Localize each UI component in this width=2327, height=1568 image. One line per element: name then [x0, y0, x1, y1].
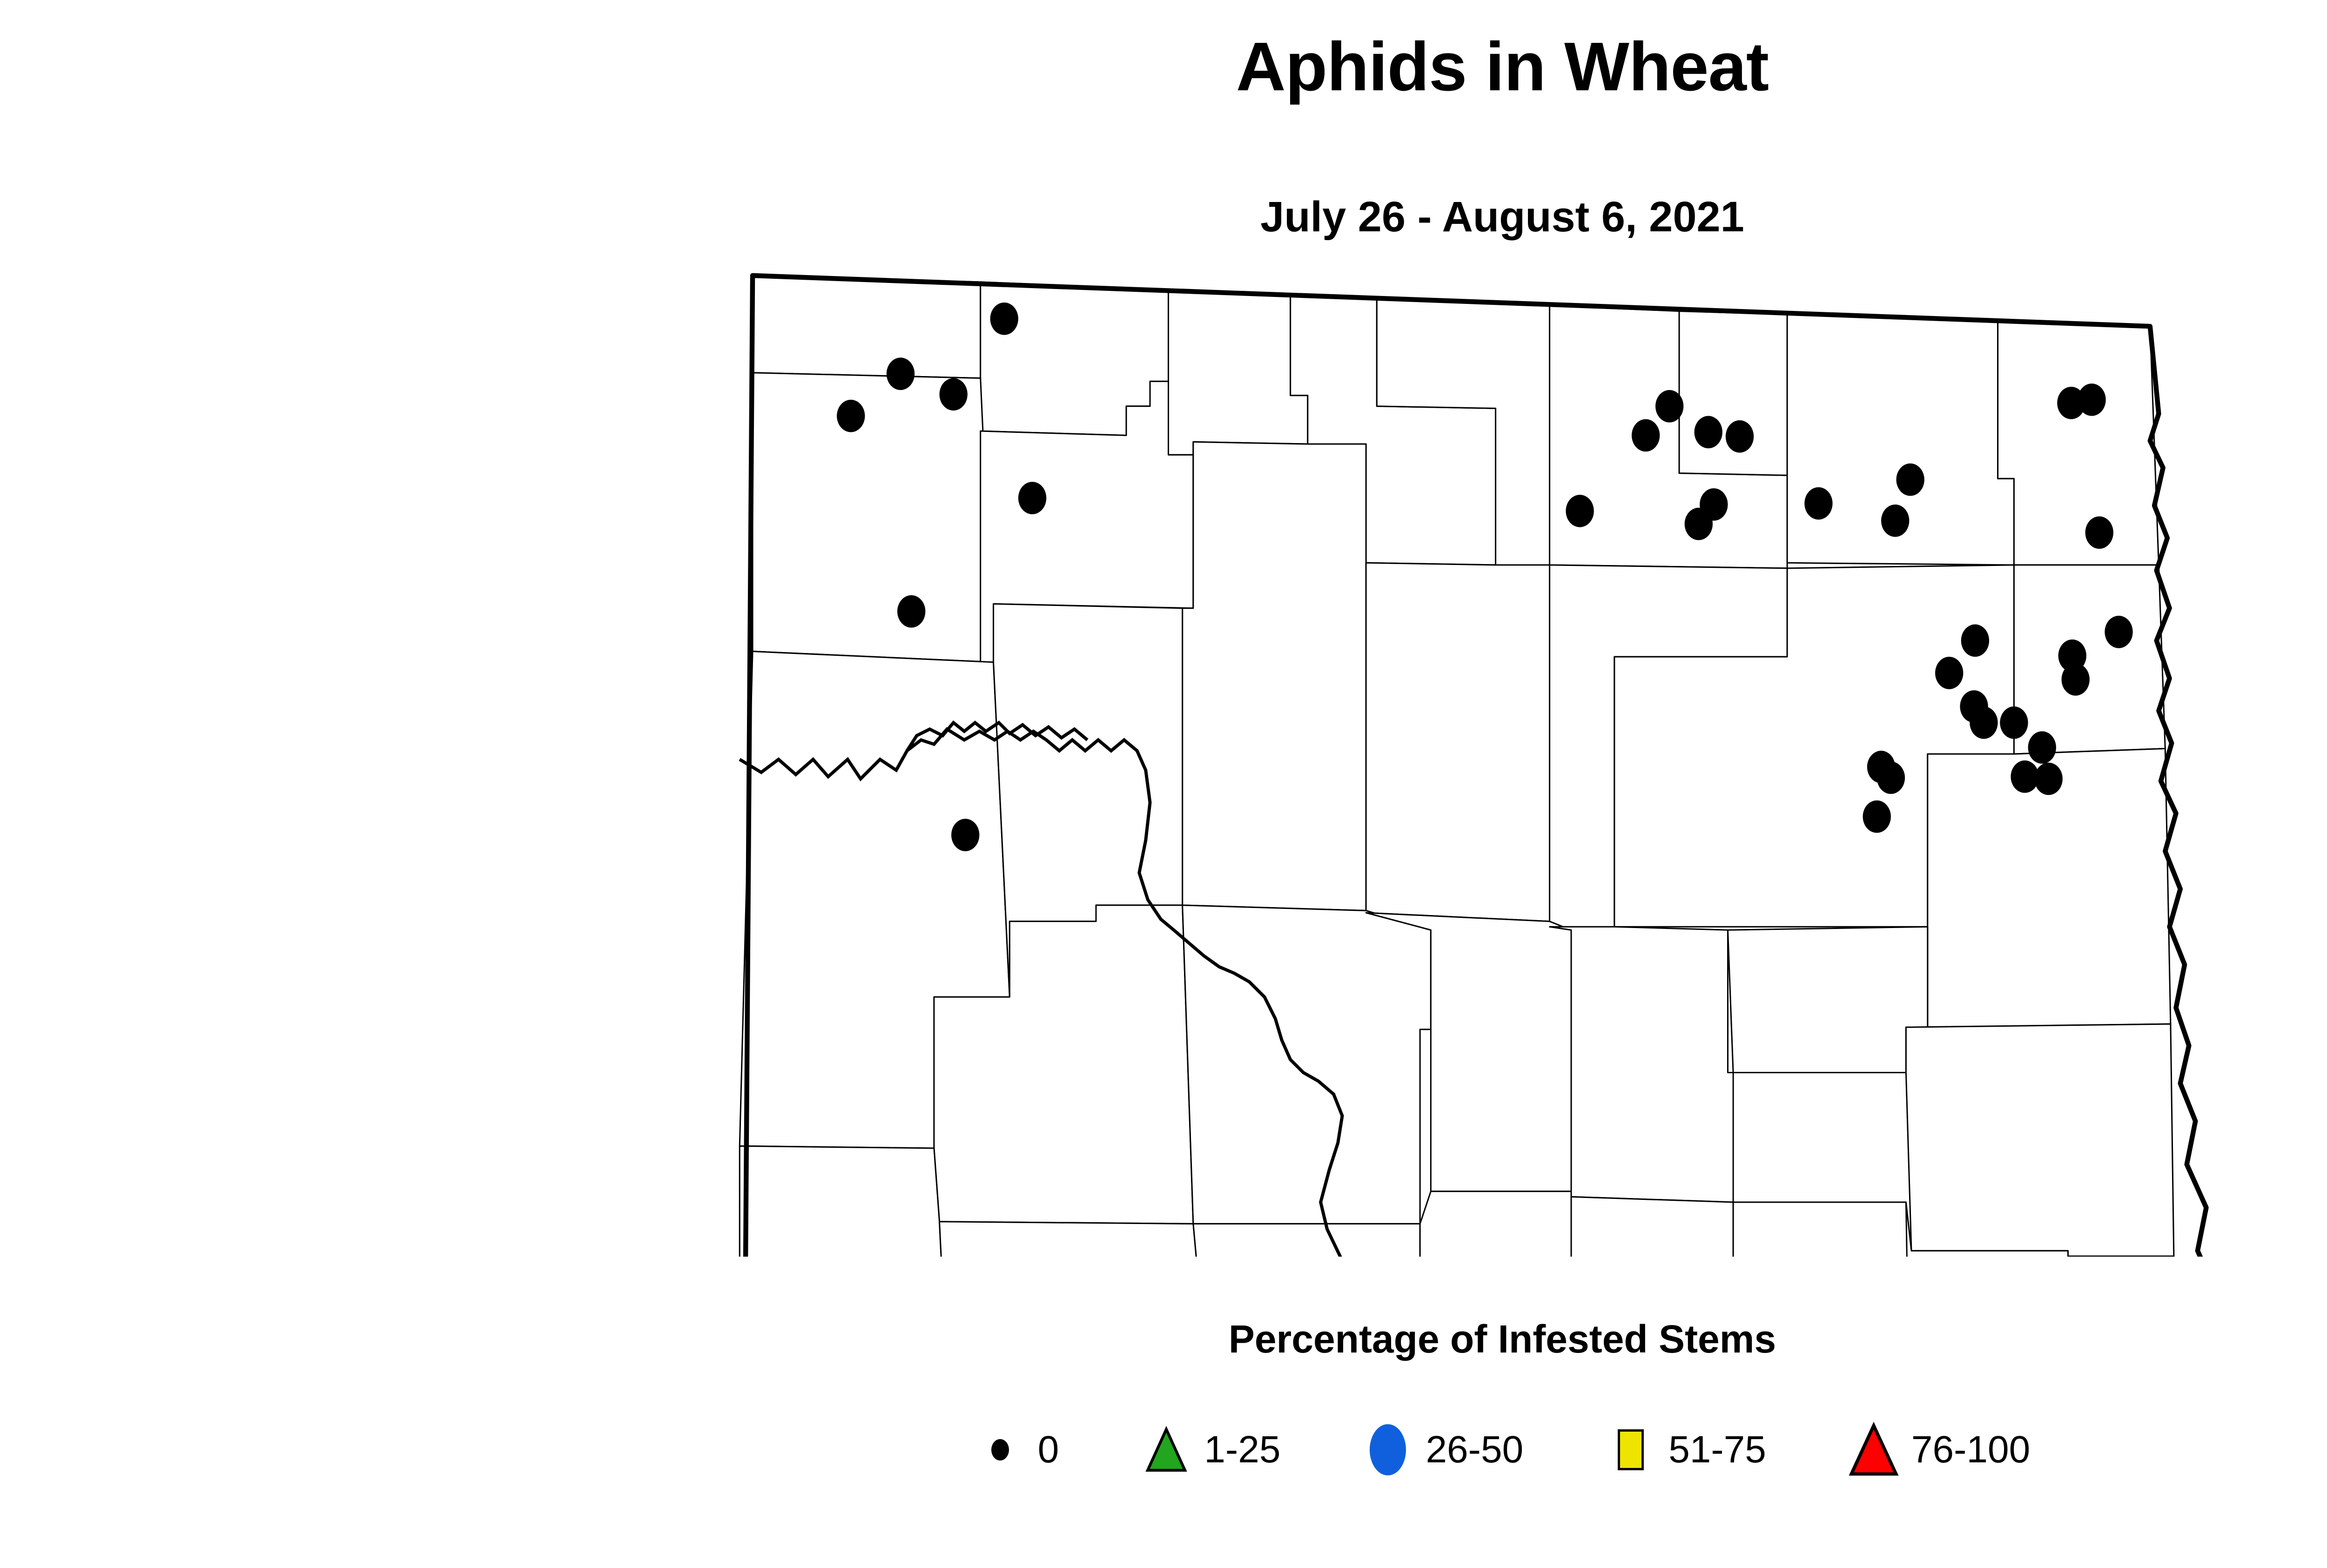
site-marker[interactable] — [1726, 420, 1754, 453]
site-marker[interactable] — [1935, 657, 1963, 689]
map-svg — [675, 251, 2327, 1257]
site-marker[interactable] — [2085, 516, 2113, 549]
green-triangle-icon — [1141, 1422, 1192, 1478]
site-marker[interactable] — [1685, 508, 1713, 540]
site-marker[interactable] — [990, 303, 1018, 335]
legend-item-26-50[interactable]: 26-50 — [1362, 1422, 1523, 1478]
site-marker[interactable] — [1863, 801, 1891, 833]
site-marker[interactable] — [1881, 505, 1909, 537]
black-dot-icon — [975, 1422, 1026, 1478]
legend-item-0[interactable]: 0 — [975, 1422, 1059, 1478]
site-marker[interactable] — [2105, 616, 2132, 648]
site-marker[interactable] — [2062, 663, 2090, 696]
site-marker[interactable] — [1804, 487, 1832, 520]
legend-label-0: 0 — [1038, 1428, 1059, 1472]
site-marker[interactable] — [1877, 761, 1905, 794]
site-marker[interactable] — [2035, 763, 2063, 795]
legend-item-51-75[interactable]: 51-75 — [1605, 1422, 1766, 1478]
site-marker[interactable] — [1897, 464, 1924, 496]
red-triangle-icon — [1848, 1422, 1899, 1478]
site-marker[interactable] — [897, 595, 925, 628]
site-marker[interactable] — [2078, 384, 2105, 416]
yellow-square-icon — [1605, 1422, 1656, 1478]
legend-title: Percentage of Infested Stems — [0, 1319, 2327, 1359]
page-title: Aphids in Wheat — [0, 33, 2327, 101]
site-marker[interactable] — [887, 357, 915, 390]
legend-item-76-100[interactable]: 76-100 — [1848, 1422, 2030, 1478]
north-dakota-map[interactable] — [675, 251, 2327, 1257]
site-marker[interactable] — [2011, 760, 2038, 793]
legend-label-51-75: 51-75 — [1668, 1428, 1766, 1472]
legend-item-1-25[interactable]: 1-25 — [1141, 1422, 1280, 1478]
site-marker[interactable] — [1018, 482, 1046, 514]
site-marker[interactable] — [1695, 416, 1722, 449]
page-subtitle: July 26 - August 6, 2021 — [0, 195, 2327, 238]
poster-canvas: Aphids in Wheat July 26 - August 6, 2021 — [0, 0, 2327, 1568]
site-marker[interactable] — [1566, 495, 1594, 527]
site-marker[interactable] — [1970, 707, 1997, 739]
legend-label-76-100: 76-100 — [1911, 1428, 2030, 1472]
site-marker[interactable] — [837, 400, 865, 432]
county-layer — [740, 276, 2199, 1257]
site-marker[interactable] — [1632, 419, 1660, 452]
legend-label-26-50: 26-50 — [1426, 1428, 1523, 1472]
site-marker[interactable] — [2000, 707, 2028, 739]
site-marker[interactable] — [951, 819, 979, 851]
site-marker[interactable] — [1655, 390, 1683, 423]
site-marker[interactable] — [2028, 731, 2056, 764]
site-marker[interactable] — [1961, 625, 1989, 657]
legend-label-1-25: 1-25 — [1204, 1428, 1280, 1472]
site-marker[interactable] — [940, 378, 968, 411]
legend: 0 1-25 26-50 51-75 — [0, 1410, 2327, 1489]
blue-circle-icon — [1362, 1422, 1413, 1478]
